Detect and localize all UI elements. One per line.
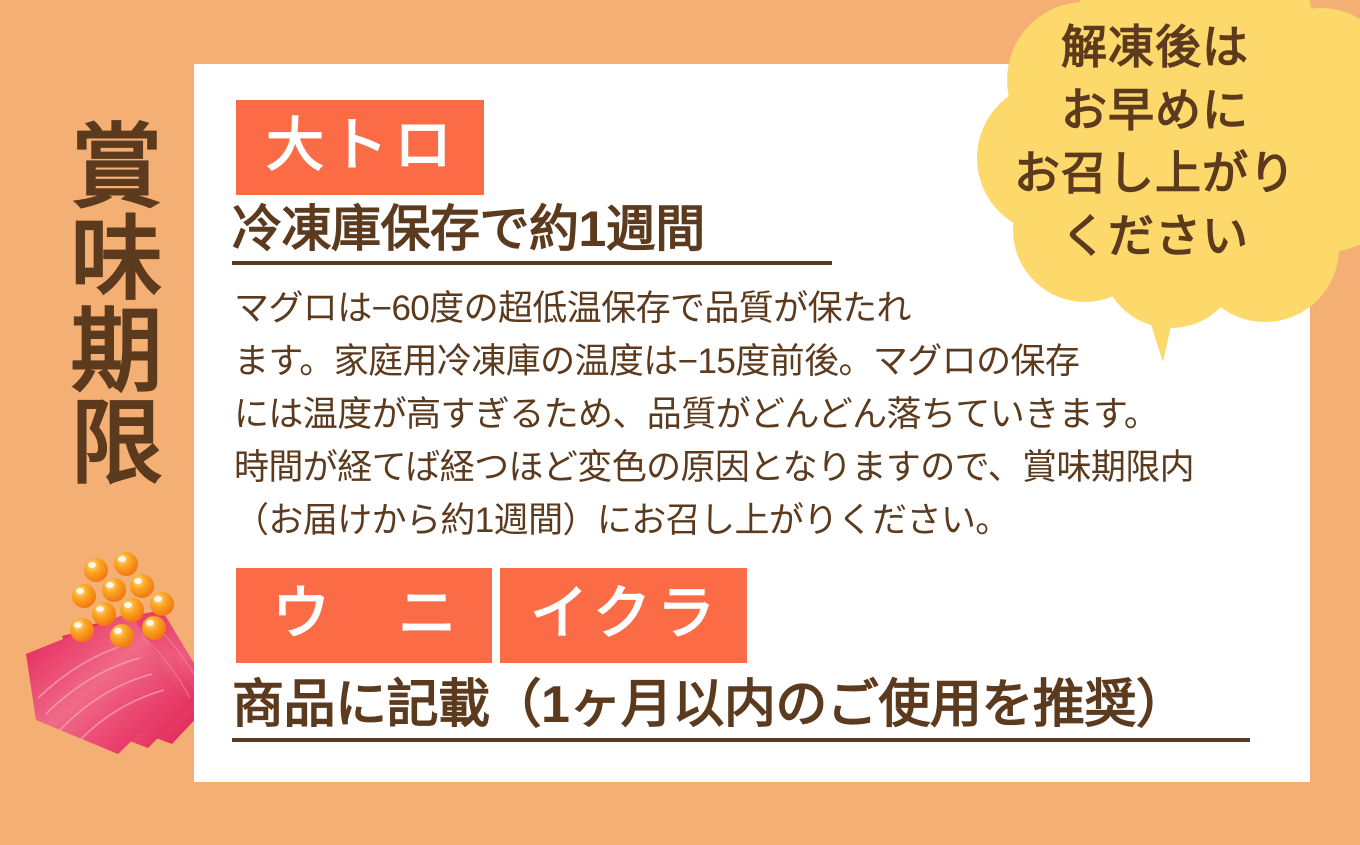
headline-top-underline <box>232 261 832 265</box>
bubble-line-3: お召し上がり <box>960 142 1350 205</box>
headline-bottom-text: 商品に記載（1ヶ月以内のご使用を推奨） <box>232 679 1187 731</box>
headline-top: 冷凍庫保存で約1週間 <box>232 204 832 265</box>
headline-top-text: 冷凍庫保存で約1週間 <box>232 204 705 254</box>
headline-bottom-underline <box>232 738 1250 742</box>
speech-bubble-text: 解凍後は お早めに お召し上がり ください <box>960 16 1350 268</box>
body-line-3: には温度が高すぎるため、品質がどんどん落ちていきます。 <box>234 388 1284 441</box>
badge-row-top: 大トロ <box>236 100 484 195</box>
headline-bottom: 商品に記載（1ヶ月以内のご使用を推奨） <box>232 679 1250 742</box>
ikura-roe-cluster <box>70 552 174 648</box>
poster-root: 賞味期限 <box>0 0 1360 845</box>
bubble-line-1: 解凍後は <box>960 16 1350 79</box>
body-paragraph: マグロは−60度の超低温保存で品質が保たれ ます。家庭用冷凍庫の温度は−15度前… <box>234 282 1284 547</box>
bubble-line-2: お早めに <box>960 79 1350 142</box>
badge-row-bottom: ウ ニ イクラ <box>236 568 747 663</box>
badge-uni: ウ ニ <box>236 568 492 663</box>
body-line-1: マグロは−60度の超低温保存で品質が保たれ <box>234 282 1284 335</box>
badge-otoro: 大トロ <box>236 100 484 195</box>
body-line-4: 時間が経てば経つほど変色の原因となりますので、賞味期限内 <box>234 441 1284 494</box>
bubble-line-4: ください <box>960 205 1350 268</box>
body-line-5: （お届けから約1週間）にお召し上がりください。 <box>234 494 1284 547</box>
tuna-sashimi-illustration <box>22 548 222 784</box>
page-title-vertical: 賞味期限 <box>44 92 160 512</box>
body-line-2: ます。家庭用冷凍庫の温度は−15度前後。マグロの保存 <box>234 335 1284 388</box>
badge-ikura: イクラ <box>500 568 747 663</box>
